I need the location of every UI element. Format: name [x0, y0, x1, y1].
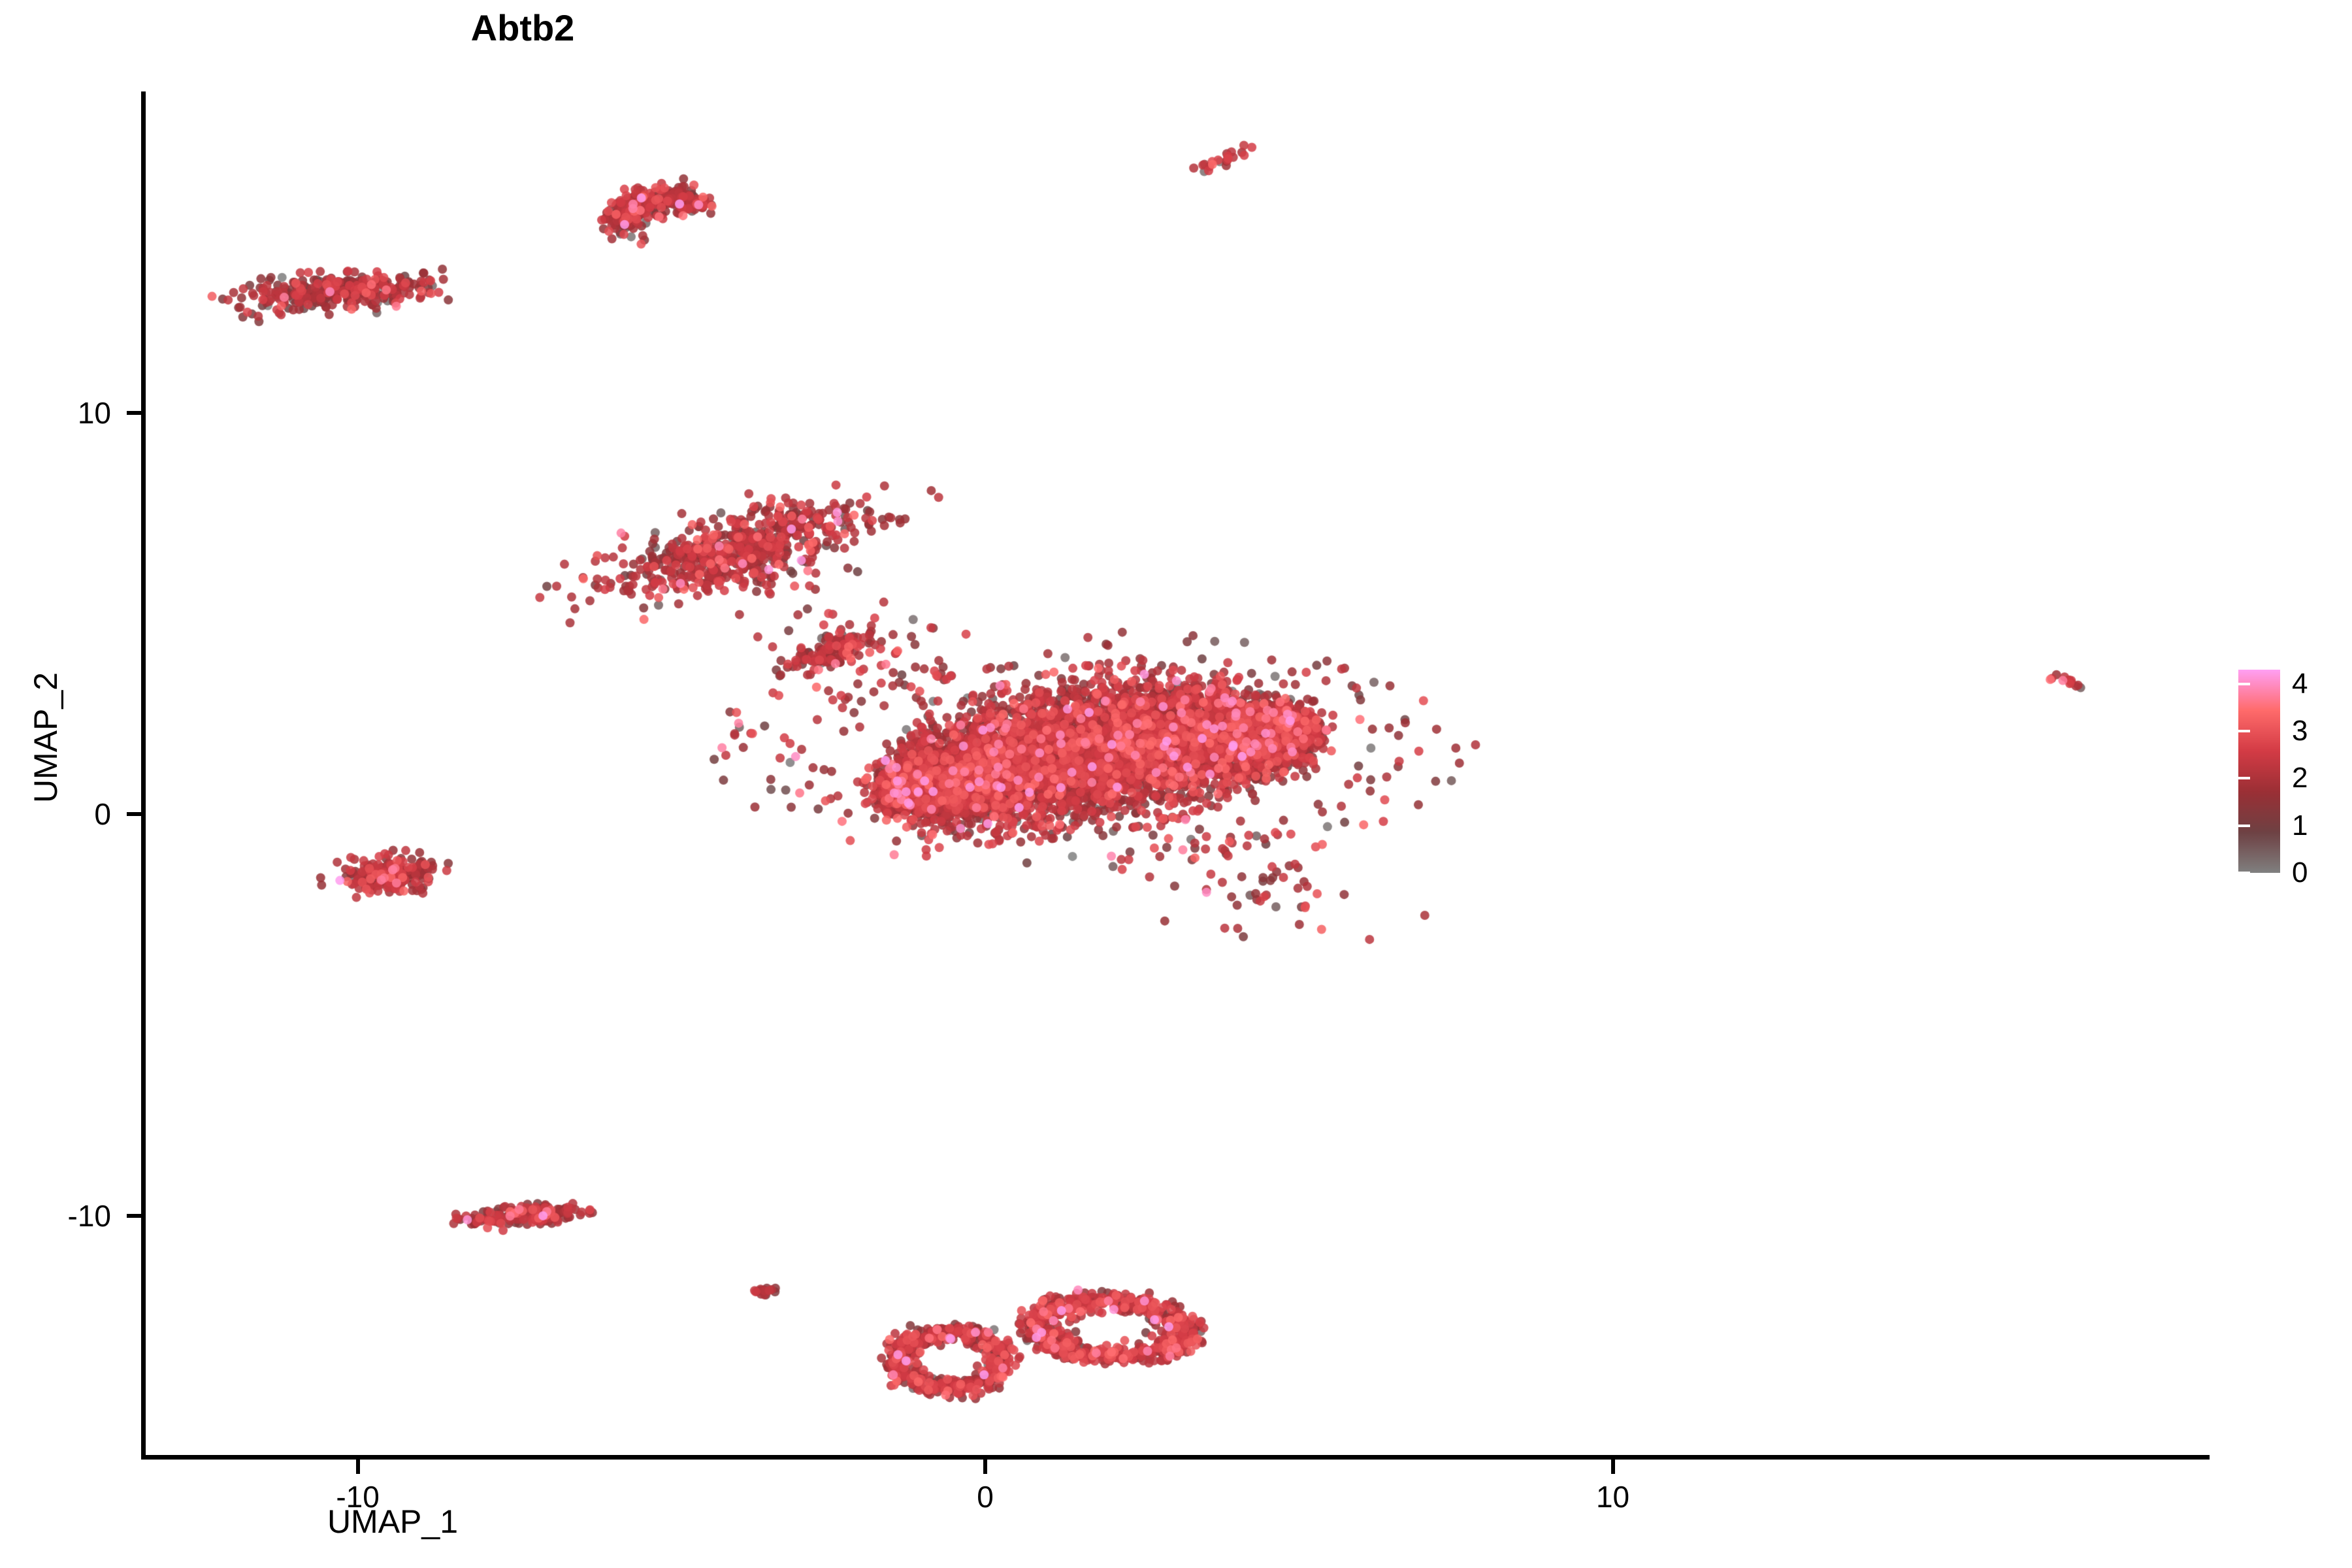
x-tick-mark — [983, 1460, 987, 1474]
colorbar-tick-mark — [2238, 730, 2250, 732]
y-tick-mark — [127, 411, 141, 415]
colorbar-tick-mark — [2238, 777, 2250, 779]
page-title: Abtb2 — [0, 7, 2352, 49]
colorbar-tick-mark — [2331, 777, 2343, 779]
y-tick-label: 10 — [13, 398, 111, 428]
x-axis-title: UMAP_1 — [144, 1503, 2209, 1541]
colorbar-legend: 43210 — [2238, 670, 2343, 885]
colorbar-tick-mark — [2331, 683, 2343, 685]
x-tick-mark — [356, 1460, 360, 1474]
plot-panel — [144, 91, 2209, 1457]
colorbar-tick-mark — [2331, 730, 2343, 732]
scatter-canvas — [144, 91, 2209, 1457]
colorbar-tick-label: 0 — [2292, 858, 2308, 887]
colorbar-tick-label: 1 — [2292, 811, 2308, 840]
x-axis-title-text: UMAP_1 — [327, 1503, 458, 1540]
x-axis-line — [141, 1455, 2210, 1460]
x-tick-mark — [1611, 1460, 1615, 1474]
y-tick-mark — [127, 812, 141, 816]
colorbar-tick-mark — [2238, 683, 2250, 685]
colorbar-tick-mark — [2331, 872, 2343, 874]
y-axis-title-text: UMAP_2 — [27, 672, 64, 803]
y-tick-mark — [127, 1214, 141, 1218]
colorbar-tick-mark — [2238, 825, 2250, 827]
colorbar-tick-mark — [2331, 825, 2343, 827]
plot-title-text: Abtb2 — [471, 7, 575, 48]
colorbar-tick-label: 2 — [2292, 764, 2308, 792]
y-tick-label: -10 — [13, 1201, 111, 1231]
colorbar-gradient[interactable] — [2238, 670, 2280, 873]
y-axis-line — [141, 91, 146, 1460]
colorbar-tick-mark — [2238, 872, 2250, 874]
umap-feature-plot: Abtb2 -10010 100-10 UMAP_1 UMAP_2 43210 — [0, 0, 2352, 1568]
y-axis-title: UMAP_2 — [27, 574, 65, 901]
colorbar-tick-label: 4 — [2292, 670, 2308, 698]
colorbar-tick-label: 3 — [2292, 717, 2308, 745]
